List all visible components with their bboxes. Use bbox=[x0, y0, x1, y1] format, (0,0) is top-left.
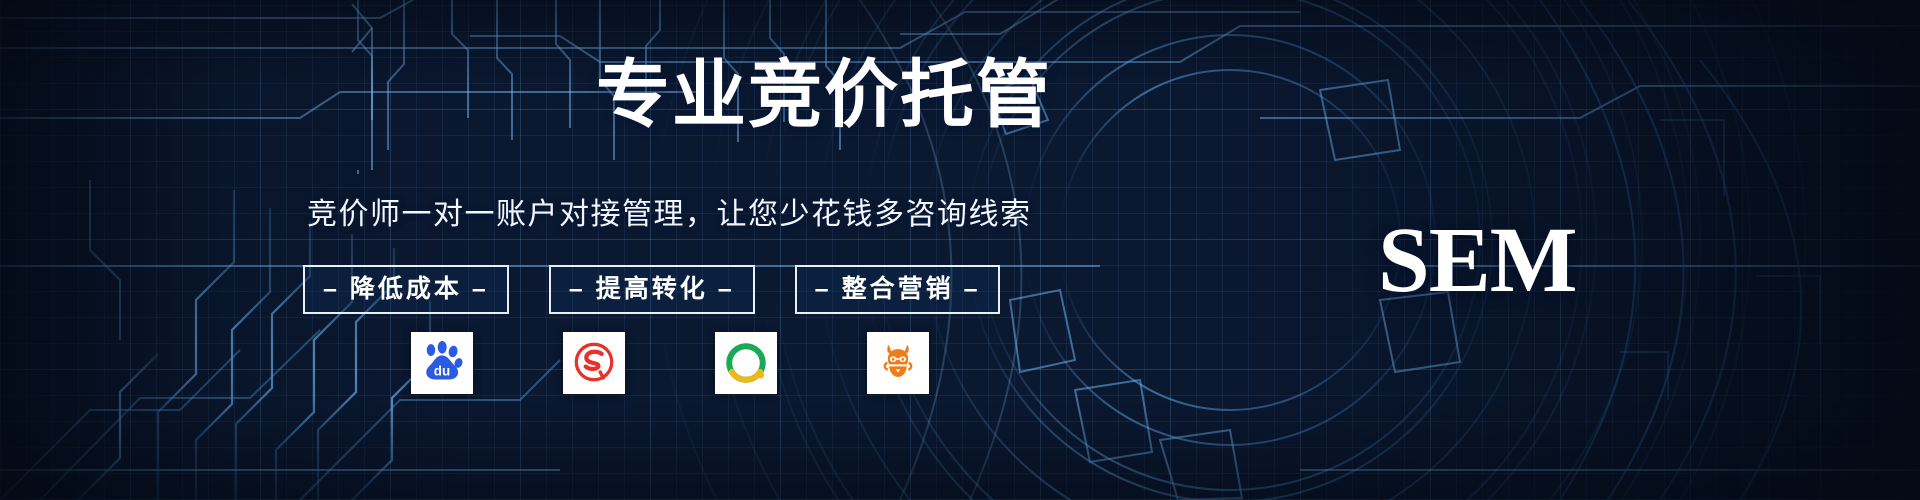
feature-tag-cost-label: 降低成本 bbox=[340, 277, 472, 302]
feature-tag-row: – 降低成本 – – 提高转化 – – 整合营销 – bbox=[303, 265, 1000, 314]
page-subtitle: 竞价师一对一账户对接管理，让您少花钱多咨询线索 bbox=[307, 200, 1032, 230]
shenma-logo[interactable] bbox=[867, 332, 929, 394]
tag-dash-left: – bbox=[323, 277, 340, 302]
baidu-logo[interactable]: du bbox=[411, 332, 473, 394]
svg-text:du: du bbox=[434, 363, 450, 378]
feature-tag-marketing-label: 整合营销 bbox=[832, 277, 964, 302]
feature-tag-cost[interactable]: – 降低成本 – bbox=[303, 265, 509, 314]
sem-hosting-banner: 专业竞价托管 竞价师一对一账户对接管理，让您少花钱多咨询线索 – 降低成本 – … bbox=[0, 0, 1920, 500]
tag-dash-right: – bbox=[472, 277, 489, 302]
tag-dash-right: – bbox=[718, 277, 735, 302]
tag-dash-left: – bbox=[569, 277, 586, 302]
banner-content: 专业竞价托管 竞价师一对一账户对接管理，让您少花钱多咨询线索 – 降低成本 – … bbox=[0, 0, 1920, 500]
platform-logo-row: du bbox=[411, 332, 929, 394]
sogou-logo[interactable] bbox=[563, 332, 625, 394]
sem-wordmark: SEM bbox=[1378, 214, 1577, 307]
360-search-logo[interactable] bbox=[715, 332, 777, 394]
feature-tag-conversion[interactable]: – 提高转化 – bbox=[549, 265, 755, 314]
feature-tag-marketing[interactable]: – 整合营销 – bbox=[795, 265, 1001, 314]
tag-dash-left: – bbox=[815, 277, 832, 302]
feature-tag-conversion-label: 提高转化 bbox=[586, 277, 718, 302]
page-title: 专业竞价托管 bbox=[596, 58, 1052, 132]
tag-dash-right: – bbox=[964, 277, 981, 302]
